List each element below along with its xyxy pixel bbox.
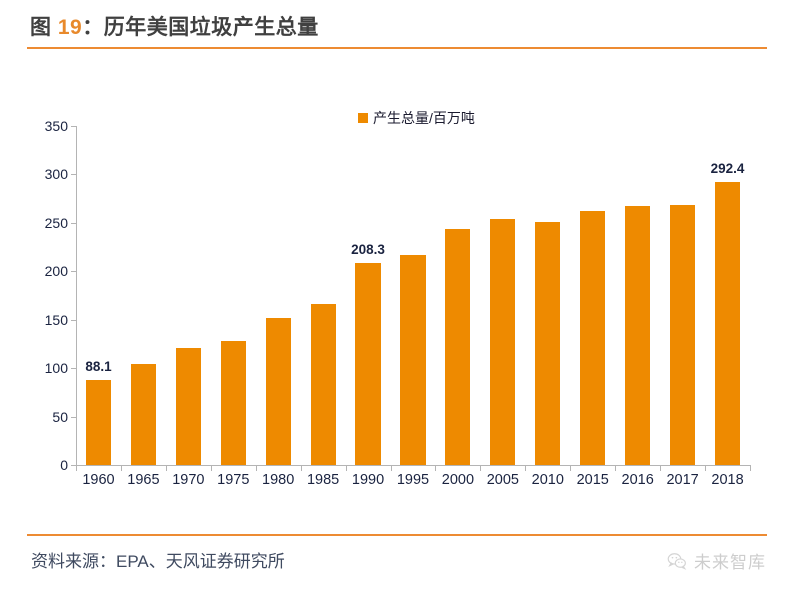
- x-axis-tick: [346, 465, 347, 471]
- x-axis-label: 2018: [711, 472, 743, 488]
- figure-title-prefix: 图: [30, 16, 58, 39]
- x-axis-tick: [525, 465, 526, 471]
- x-axis-label: 1990: [352, 472, 384, 488]
- bar[interactable]: [445, 229, 470, 465]
- bar-slot: [435, 126, 480, 465]
- bar-series: 88.1208.3292.4: [76, 126, 750, 465]
- y-axis-tick-label: 300: [45, 166, 68, 182]
- bar[interactable]: [400, 255, 425, 465]
- source-note: 资料来源：EPA、天风证券研究所: [31, 547, 285, 572]
- x-axis-label: 1985: [307, 472, 339, 488]
- x-axis-label: 2015: [577, 472, 609, 488]
- x-axis-label: 1980: [262, 472, 294, 488]
- figure-header: 图 19：历年美国垃圾产生总量: [0, 0, 794, 50]
- bar[interactable]: [131, 364, 156, 465]
- bar[interactable]: [535, 222, 560, 465]
- x-axis-tick: [615, 465, 616, 471]
- bar[interactable]: [176, 348, 201, 465]
- bar-slot: [615, 126, 660, 465]
- y-axis-tick-label: 100: [45, 360, 68, 376]
- x-axis-label: 1970: [172, 472, 204, 488]
- bar-slot: [211, 126, 256, 465]
- figure-title-separator: ：: [82, 16, 104, 39]
- bar-value-label: 88.1: [85, 359, 111, 374]
- x-axis-tick: [750, 465, 751, 471]
- x-axis-line: [76, 465, 750, 466]
- y-axis-tick-label: 150: [45, 312, 68, 328]
- x-axis-labels: 1960196519701975198019851990199520002005…: [76, 472, 750, 498]
- bar-slot: [480, 126, 525, 465]
- x-axis-label: 2010: [532, 472, 564, 488]
- bar[interactable]: [86, 380, 111, 465]
- bar[interactable]: [311, 304, 336, 465]
- watermark-label: 未来智库: [694, 548, 766, 573]
- bar-slot: [525, 126, 570, 465]
- x-axis-tick: [391, 465, 392, 471]
- x-axis-label: 1965: [127, 472, 159, 488]
- bar[interactable]: [625, 206, 650, 465]
- bar-slot: 292.4: [705, 126, 750, 465]
- header-divider: [27, 47, 767, 49]
- bar-value-label: 292.4: [711, 161, 745, 176]
- x-axis-label: 2016: [622, 472, 654, 488]
- x-axis-label: 2005: [487, 472, 519, 488]
- bar-slot: [121, 126, 166, 465]
- bar[interactable]: [715, 182, 740, 465]
- x-axis-label: 1975: [217, 472, 249, 488]
- legend-swatch-icon: [358, 113, 368, 123]
- bar-slot: [660, 126, 705, 465]
- x-axis-label: 2017: [666, 472, 698, 488]
- x-axis-tick: [211, 465, 212, 471]
- bar-slot: [166, 126, 211, 465]
- x-axis-tick: [570, 465, 571, 471]
- bar-slot: 88.1: [76, 126, 121, 465]
- bar-slot: 208.3: [346, 126, 391, 465]
- x-axis-label: 1960: [82, 472, 114, 488]
- x-axis-tick: [705, 465, 706, 471]
- x-axis-tick: [121, 465, 122, 471]
- chart-legend: 产生总量/百万吨: [358, 108, 475, 128]
- x-axis-tick: [256, 465, 257, 471]
- x-axis-tick: [301, 465, 302, 471]
- x-axis-label: 1995: [397, 472, 429, 488]
- y-axis-tick-label: 250: [45, 215, 68, 231]
- y-axis-tick-label: 350: [45, 118, 68, 134]
- bar[interactable]: [670, 205, 695, 465]
- y-axis-tick-label: 50: [52, 409, 68, 425]
- figure-title-text: 历年美国垃圾产生总量: [104, 16, 319, 39]
- bar[interactable]: [490, 219, 515, 465]
- bar-slot: [256, 126, 301, 465]
- bar[interactable]: [355, 263, 380, 465]
- bar-value-label: 208.3: [351, 242, 385, 257]
- watermark: 未来智库: [667, 548, 766, 573]
- bar-slot: [391, 126, 436, 465]
- x-axis-tick: [435, 465, 436, 471]
- x-axis-tick: [480, 465, 481, 471]
- bar[interactable]: [266, 318, 291, 465]
- bar-slot: [301, 126, 346, 465]
- wechat-icon: [667, 551, 687, 571]
- page-title: 图 19：历年美国垃圾产生总量: [30, 11, 319, 41]
- figure-number: 19: [58, 16, 82, 39]
- x-axis-tick: [76, 465, 77, 471]
- bar-chart: 产生总量/百万吨 050100150200250300350 88.1208.3…: [0, 50, 794, 520]
- bar-slot: [570, 126, 615, 465]
- bar[interactable]: [221, 341, 246, 465]
- bar[interactable]: [580, 211, 605, 465]
- legend-label: 产生总量/百万吨: [373, 108, 475, 128]
- y-axis-tick-label: 200: [45, 263, 68, 279]
- x-axis-label: 2000: [442, 472, 474, 488]
- x-axis-tick: [166, 465, 167, 471]
- y-axis-tick-label: 0: [60, 457, 68, 473]
- x-axis-tick: [660, 465, 661, 471]
- footer-divider: [27, 534, 767, 536]
